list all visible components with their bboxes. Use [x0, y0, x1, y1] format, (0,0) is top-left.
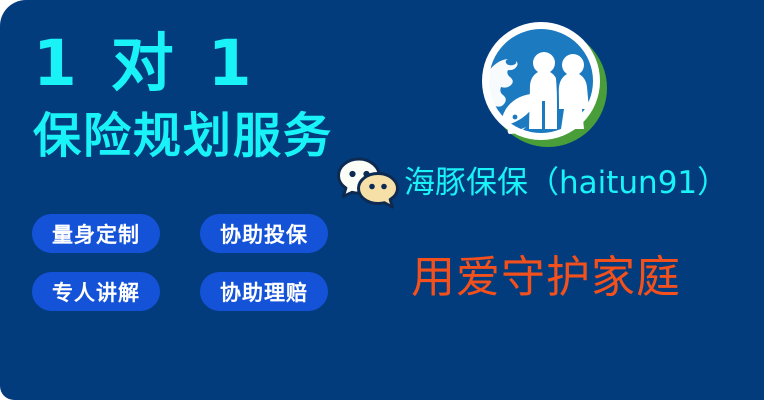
headline-primary: 1 对 1 — [33, 28, 363, 100]
feature-pill-expert-explanation[interactable]: 专人讲解 — [32, 272, 160, 311]
feature-pill-claims-help[interactable]: 协助理赔 — [200, 272, 328, 311]
feature-pill-grid: 量身定制 协助投保 专人讲解 协助理赔 — [32, 214, 332, 311]
wechat-handle-text: 海豚保保（haitun91） — [404, 166, 728, 200]
wechat-icon — [336, 156, 400, 210]
headline-block: 1 对 1 保险规划服务 — [33, 28, 363, 164]
feature-pill-custom-plan[interactable]: 量身定制 — [32, 214, 160, 253]
promo-banner: 1 对 1 保险规划服务 量身定制 协助投保 专人讲解 协助理赔 — [0, 0, 764, 400]
headline-secondary: 保险规划服务 — [33, 108, 363, 164]
globe-family-dolphin-logo-icon — [478, 18, 610, 150]
brand-slogan: 用爱守护家庭 — [411, 253, 681, 303]
feature-pill-application-help[interactable]: 协助投保 — [200, 214, 328, 253]
wechat-contact-row: 海豚保保（haitun91） — [336, 156, 728, 210]
